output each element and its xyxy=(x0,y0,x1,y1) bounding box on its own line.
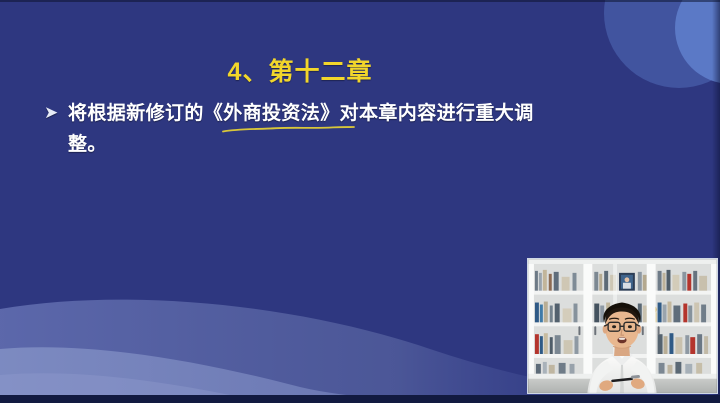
bullet-body: 将根据新修订的《外商投资法》对本章内容进行重大调整。 xyxy=(68,98,564,160)
handdrawn-underline-icon xyxy=(221,124,356,136)
presenter-video-frame xyxy=(528,259,717,394)
presenter-video-overlay[interactable] xyxy=(527,258,718,394)
slide-title: 4、第十二章 xyxy=(0,52,600,88)
decorative-circle-mid xyxy=(604,0,720,88)
bullet-arrow-icon: ➤ xyxy=(44,98,68,127)
bullet-paragraph: ➤ 将根据新修订的《外商投资法》对本章内容进行重大调整。 xyxy=(44,98,564,160)
letterbox-top xyxy=(0,0,720,2)
decorative-circle-bright xyxy=(675,0,720,84)
letterbox-bottom xyxy=(0,395,720,403)
slide-stage: 4、第十二章 ➤ 将根据新修订的《外商投资法》对本章内容进行重大调整。 xyxy=(0,0,720,403)
